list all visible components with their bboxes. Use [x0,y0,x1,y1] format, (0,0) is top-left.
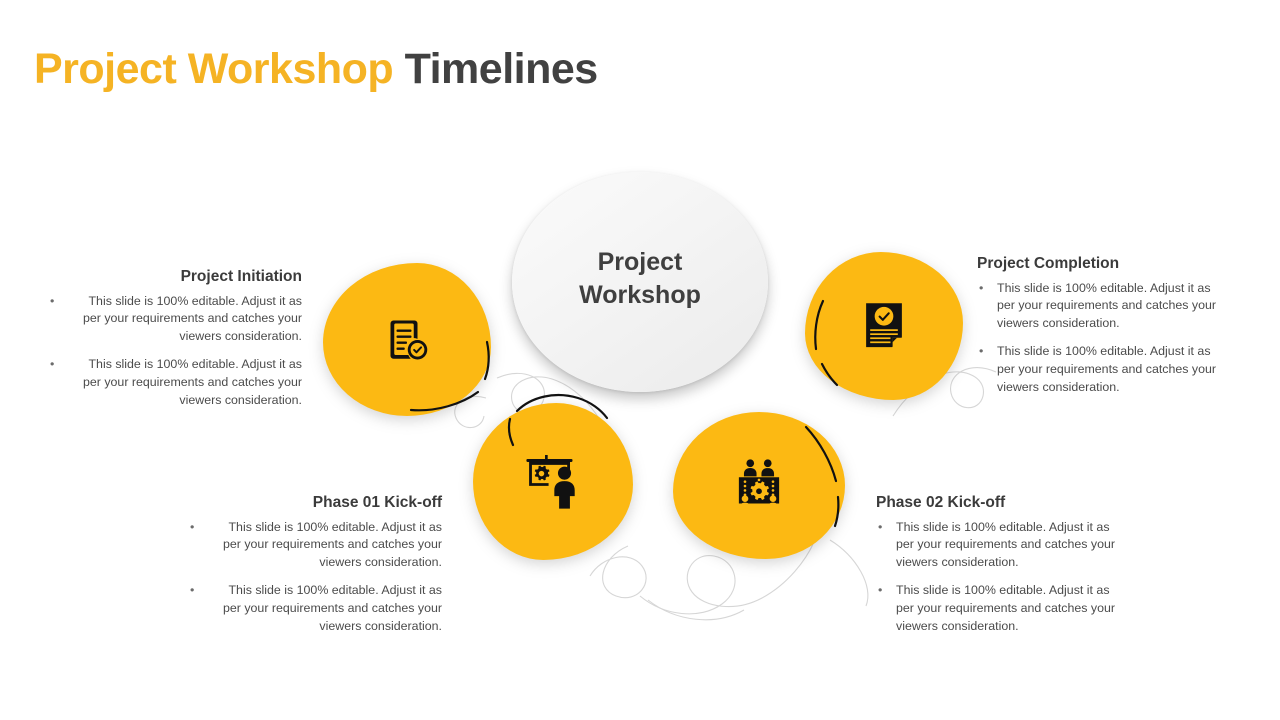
page-title: Project Workshop Timelines [34,46,598,93]
page-title-rest: Timelines [393,45,598,93]
list-item: •This slide is 100% editable. Adjust it … [977,343,1227,396]
bullet-icon: • [190,582,194,600]
center-label-line1: Project [598,248,683,276]
bullet-icon: • [878,582,882,600]
text-block-phase-01-kick-off: Phase 01 Kick-off •This slide is 100% ed… [188,494,442,646]
text-block-phase-02-kick-off: Phase 02 Kick-off •This slide is 100% ed… [876,494,1126,646]
bullet-text: This slide is 100% editable. Adjust it a… [223,520,442,569]
bullet-text: This slide is 100% editable. Adjust it a… [896,520,1115,569]
blob-project-completion[interactable] [805,252,963,400]
blob-phase-02-kick-off[interactable] [673,412,845,559]
node-title-phase-02-kick-off: Phase 02 Kick-off [876,494,1126,513]
bullet-icon: • [979,280,983,298]
document-checklist-check-icon [383,316,431,364]
bullet-icon: • [878,519,882,537]
bullet-icon: • [979,343,983,361]
page-title-accent: Project Workshop [34,45,393,93]
bullet-list-phase-01-kick-off: •This slide is 100% editable. Adjust it … [188,519,442,636]
list-item: •This slide is 100% editable. Adjust it … [977,280,1227,333]
bullet-icon: • [50,293,54,311]
bullet-icon: • [190,519,194,537]
list-item: •This slide is 100% editable. Adjust it … [188,582,442,635]
text-block-project-completion: Project Completion •This slide is 100% e… [977,255,1227,407]
bullet-text: This slide is 100% editable. Adjust it a… [83,294,302,343]
list-item: •This slide is 100% editable. Adjust it … [188,519,442,572]
document-approved-check-icon [861,300,907,352]
node-title-project-initiation: Project Initiation [48,268,302,287]
bullet-text: This slide is 100% editable. Adjust it a… [997,344,1216,393]
node-title-project-completion: Project Completion [977,255,1227,274]
bullet-icon: • [50,356,54,374]
bullet-text: This slide is 100% editable. Adjust it a… [896,583,1115,632]
center-label-line2: Workshop [579,281,701,309]
center-circle-project-workshop[interactable]: Project Workshop [512,172,768,392]
bullet-text: This slide is 100% editable. Adjust it a… [997,281,1216,330]
presentation-board-gear-presenter-icon [522,453,584,511]
list-item: •This slide is 100% editable. Adjust it … [876,582,1126,635]
bullet-list-phase-02-kick-off: •This slide is 100% editable. Adjust it … [876,519,1126,636]
bullet-list-project-completion: •This slide is 100% editable. Adjust it … [977,280,1227,397]
node-title-phase-01-kick-off: Phase 01 Kick-off [188,494,442,513]
blob-phase-01-kick-off[interactable] [473,403,633,560]
list-item: •This slide is 100% editable. Adjust it … [48,293,302,346]
list-item: •This slide is 100% editable. Adjust it … [48,356,302,409]
list-item: •This slide is 100% editable. Adjust it … [876,519,1126,572]
bullet-text: This slide is 100% editable. Adjust it a… [223,583,442,632]
blob-project-initiation[interactable] [323,263,491,416]
text-block-project-initiation: Project Initiation •This slide is 100% e… [48,268,302,420]
bullet-list-project-initiation: •This slide is 100% editable. Adjust it … [48,293,302,410]
team-collaboration-gear-icon [730,458,788,514]
slide-canvas: Project Workshop Timelines Project Works… [0,0,1280,720]
bullet-text: This slide is 100% editable. Adjust it a… [83,357,302,406]
center-circle-label: Project Workshop [579,246,701,318]
